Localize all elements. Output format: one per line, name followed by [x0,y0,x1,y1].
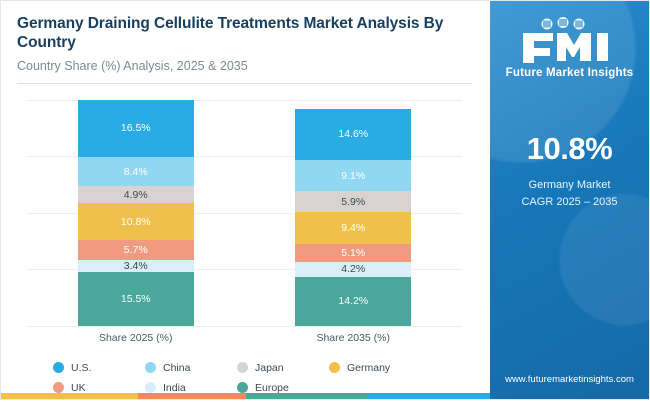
bar-segment-label: 3.4% [124,260,148,272]
bar-segment-label: 4.9% [124,189,148,201]
bar-segment: 9.1% [295,160,411,192]
legend-label: Europe [255,382,289,394]
bar-segment-label: 4.2% [341,263,365,275]
bar-segment: 5.9% [295,191,411,211]
legend-label: UK [71,382,86,394]
legend-item[interactable]: U.S. [53,362,119,374]
legend-color-dot [237,362,248,373]
chart-area: 16.5%8.4%4.9%10.8%5.7%3.4%15.5%14.6%9.1%… [17,90,474,399]
bar-segment-label: 16.5% [121,122,151,134]
bottom-color-stripes [1,393,491,399]
bar-segment-label: 9.1% [341,170,365,182]
legend-item[interactable]: Japan [237,362,303,374]
bar-segment-label: 5.9% [341,196,365,208]
legend-color-dot [53,362,64,373]
website-url: www.futuremarketinsights.com [490,374,649,385]
page-title: Germany Draining Cellulite Treatments Ma… [17,15,447,53]
x-tick-label: Share 2025 (%) [78,332,194,344]
legend-label: Germany [347,362,390,374]
cagr-caption-line1: Germany Market [529,179,611,191]
legend-item[interactable]: India [145,382,211,394]
bar-segment: 16.5% [78,100,194,157]
bar-column: 14.6%9.1%5.9%9.4%5.1%4.2%14.2% [295,109,411,326]
cagr-caption: Germany Market CAGR 2025 – 2035 [521,177,617,210]
infographic-card: Germany Draining Cellulite Treatments Ma… [0,0,650,400]
bar-segment: 4.2% [295,262,411,277]
chart-subtitle: Country Share (%) Analysis, 2025 & 2035 [17,59,474,73]
legend-color-dot [329,362,340,373]
bar-segment: 4.9% [78,186,194,203]
bar-segment: 10.8% [78,203,194,240]
legend-label: China [163,362,190,374]
bar-segment: 9.4% [295,212,411,245]
stacked-bars: 16.5%8.4%4.9%10.8%5.7%3.4%15.5%14.6%9.1%… [27,100,462,326]
bar-segment-label: 8.4% [124,166,148,178]
bar-segment-label: 5.7% [124,244,148,256]
bar-segment: 15.5% [78,272,194,326]
bar-segment-label: 15.5% [121,293,151,305]
legend-color-dot [145,382,156,393]
fmi-logo: Future Market Insights [506,17,634,79]
bar-column: 16.5%8.4%4.9%10.8%5.7%3.4%15.5% [78,100,194,326]
legend-label: India [163,382,186,394]
bar-segment-label: 10.8% [121,216,151,228]
x-tick-label: Share 2035 (%) [295,332,411,344]
bar-segment: 5.7% [78,240,194,260]
bar-segment: 8.4% [78,157,194,186]
brand-name: Future Market Insights [506,67,634,79]
chart-panel: Germany Draining Cellulite Treatments Ma… [1,1,490,399]
legend-item[interactable]: Germany [329,362,395,374]
legend-item[interactable]: China [145,362,211,374]
bar-segment-label: 14.6% [338,128,368,140]
legend-item[interactable]: Europe [237,382,303,394]
header-divider [17,83,472,84]
bar-segment: 14.6% [295,109,411,160]
bar-segment: 14.2% [295,277,411,326]
bar-segment-label: 5.1% [341,247,365,259]
legend-label: U.S. [71,362,91,374]
legend-label: Japan [255,362,284,374]
plot-region: 16.5%8.4%4.9%10.8%5.7%3.4%15.5%14.6%9.1%… [27,100,462,326]
cagr-caption-line2: CAGR 2025 – 2035 [521,196,617,208]
bar-segment-label: 14.2% [338,295,368,307]
legend-color-dot [145,362,156,373]
brand-panel: Future Market Insights 10.8% Germany Mar… [490,1,649,399]
bar-segment: 3.4% [78,260,194,272]
cagr-value: 10.8% [527,131,612,167]
bar-segment-label: 9.4% [341,222,365,234]
legend-color-dot [237,382,248,393]
legend-item[interactable]: UK [53,382,119,394]
bar-segment: 5.1% [295,244,411,262]
x-axis-labels: Share 2025 (%) Share 2035 (%) [27,332,462,344]
fmi-logo-icon [517,17,621,63]
legend-color-dot [53,382,64,393]
